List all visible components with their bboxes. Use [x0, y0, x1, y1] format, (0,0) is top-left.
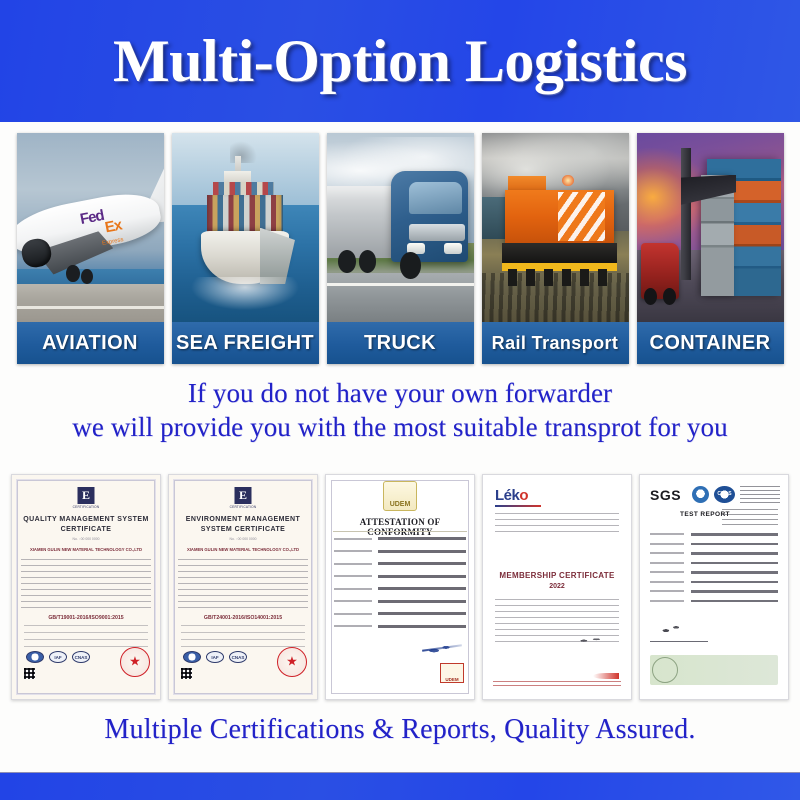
airplane-icon: Fed Ex Express — [17, 133, 164, 322]
transport-card-rail-transport[interactable]: Rail Transport — [482, 133, 629, 364]
certificate-attestation-of-conformity[interactable]: UDEM ATTESTATION OF CONFORMITY UDEM — [325, 474, 475, 700]
train-icon — [482, 133, 629, 322]
bottom-caption: Multiple Certifications & Reports, Quali… — [0, 714, 800, 746]
page-title: Multi-Option Logistics — [113, 31, 687, 91]
accreditation-marks: IAF CNAS — [183, 651, 247, 663]
transport-label-rail-transport: Rail Transport — [482, 322, 629, 364]
signature-icon — [422, 641, 462, 657]
certificate-title: ENVIRONMENT MANAGEMENT SYSTEM CERTIFICAT… — [177, 515, 309, 535]
udem-seal-icon: UDEM — [440, 663, 464, 683]
iaf-mark: IAF — [49, 651, 67, 663]
certificate-scope-text — [181, 625, 305, 647]
certificate-scope-text — [24, 625, 148, 647]
certificate-address-text — [495, 513, 619, 537]
certificate-year: 2022 — [491, 583, 623, 590]
certification-body-name: CERTIFICATION — [230, 505, 257, 509]
certificate-number: No. : 00 000 0000 — [179, 537, 307, 541]
globe-icon — [183, 651, 201, 663]
sgs-logo-icon: SGS — [650, 487, 681, 503]
signature-icon — [567, 633, 609, 647]
certificate-membership[interactable]: Léko MEMBERSHIP CERTIFICATE 2022 — [482, 474, 632, 700]
footer-bar — [0, 772, 800, 800]
ship-icon — [172, 133, 319, 322]
certificate-row: E CERTIFICATION QUALITY MANAGEMENT SYSTE… — [0, 474, 800, 702]
header-banner: Multi-Option Logistics — [0, 0, 800, 122]
transport-card-truck[interactable]: TRUCK — [327, 133, 474, 364]
certificate-number: No. : 00 000 0000 — [22, 537, 150, 541]
watermark-seal-icon — [652, 657, 678, 683]
certificate-body-text — [178, 559, 308, 611]
transport-label-sea-freight: SEA FREIGHT — [172, 322, 319, 364]
qr-code-icon — [181, 668, 192, 679]
certificate-quality-management[interactable]: E CERTIFICATION QUALITY MANAGEMENT SYSTE… — [11, 474, 161, 700]
iaf-mark: IAF — [206, 651, 224, 663]
logistics-banner: Multi-Option Logistics Fed Ex Express AV… — [0, 0, 800, 800]
leko-swoosh-icon — [593, 673, 619, 679]
truck-icon — [327, 133, 474, 322]
transport-label-truck: TRUCK — [327, 322, 474, 364]
report-fields — [650, 533, 778, 613]
certification-body-logo: E — [78, 487, 95, 504]
signature-icon — [654, 621, 688, 637]
certificate-title: QUALITY MANAGEMENT SYSTEM CERTIFICATE — [20, 515, 152, 535]
transport-label-aviation: AVIATION — [17, 322, 164, 364]
sgs-address-text — [740, 486, 780, 503]
container-icon — [637, 133, 784, 322]
qr-code-icon — [24, 668, 35, 679]
accreditation-badge-icon — [692, 486, 709, 503]
cnas-badge-icon: CNAS — [714, 486, 735, 503]
tagline: If you do not have your own forwarder we… — [0, 376, 800, 444]
accreditation-marks: IAF CNAS — [26, 651, 90, 663]
report-meta-text — [722, 509, 778, 527]
transport-card-container[interactable]: CONTAINER — [637, 133, 784, 364]
transport-card-sea-freight[interactable]: SEA FREIGHT — [172, 133, 319, 364]
certificate-title: ATTESTATION OF CONFORMITY — [332, 517, 468, 537]
certificate-fields — [334, 537, 466, 641]
certificate-organization: XIAMEN GULIN NEW MATERIAL TECHNOLOGY CO.… — [177, 547, 309, 553]
tagline-line-1: If you do not have your own forwarder — [0, 376, 800, 410]
cnas-mark: CNAS — [72, 651, 90, 663]
certificate-title: MEMBERSHIP CERTIFICATE — [491, 571, 623, 580]
tagline-line-2: we will provide you with the most suitab… — [0, 410, 800, 444]
red-seal-stamp-icon — [120, 647, 150, 677]
certificate-test-report[interactable]: SGS CNAS TEST REPORT — [639, 474, 789, 700]
globe-icon — [26, 651, 44, 663]
certificate-standard: GB/T19001-2016/ISO9001:2015 — [20, 615, 152, 621]
fedex-logo-ex: Ex — [103, 217, 122, 237]
certificate-standard: GB/T24001-2016/ISO14001:2015 — [177, 615, 309, 621]
red-seal-stamp-icon — [277, 647, 307, 677]
certificate-environment-management[interactable]: E CERTIFICATION ENVIRONMENT MANAGEMENT S… — [168, 474, 318, 700]
certificate-organization: XIAMEN GULIN NEW MATERIAL TECHNOLOGY CO.… — [20, 547, 152, 553]
transport-card-aviation[interactable]: Fed Ex Express AVIATION — [17, 133, 164, 364]
certification-body-logo: E — [235, 487, 252, 504]
certificate-body-text — [21, 559, 151, 611]
udem-logo-icon: UDEM — [383, 481, 417, 511]
transport-label-container: CONTAINER — [637, 322, 784, 364]
certification-body-name: CERTIFICATION — [73, 505, 100, 509]
cnas-mark: CNAS — [229, 651, 247, 663]
transport-card-row: Fed Ex Express AVIATION SEA FREIGHT — [0, 133, 800, 366]
certificate-footer — [493, 681, 621, 689]
leko-logo-icon: Léko — [495, 487, 528, 504]
